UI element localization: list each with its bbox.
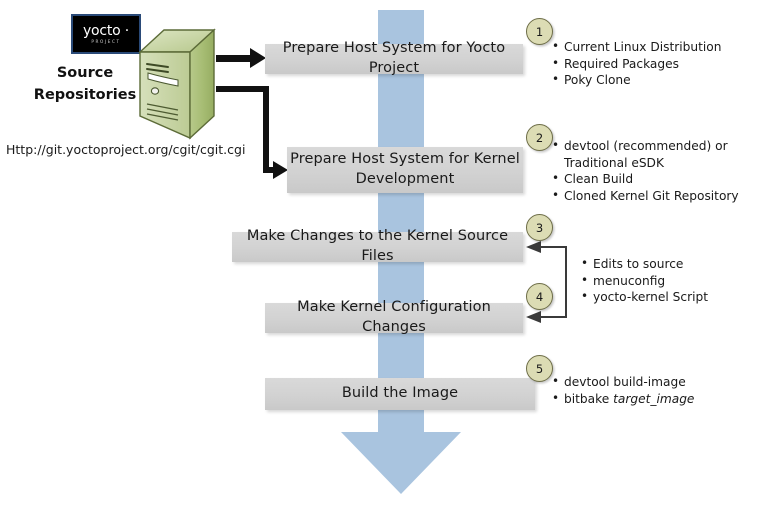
- logo-subtitle: PROJECT: [91, 40, 120, 44]
- list-item-emphasis: target_image: [613, 392, 694, 406]
- bracket-connector-top: [540, 246, 566, 248]
- server-icon: [138, 28, 216, 140]
- step-badge-4: 4: [526, 283, 553, 310]
- list-item-text: devtool build-image: [564, 375, 686, 389]
- diagram-canvas: yocto · PROJECT Source Repositories Http…: [0, 0, 769, 517]
- step-2-bullets: devtool (recommended) or Traditional eSD…: [552, 138, 764, 204]
- step-5-bullets: devtool build-image bitbake target_image: [552, 374, 752, 407]
- step-badge-2: 2: [526, 124, 553, 151]
- process-box-build-image[interactable]: Build the Image: [265, 378, 535, 410]
- connector-server-to-box2-vertical: [263, 86, 269, 173]
- bracket-arrowhead-step3: [526, 241, 541, 253]
- list-item: Clean Build: [552, 171, 764, 188]
- list-item: yocto-kernel Script: [581, 289, 761, 306]
- list-item: Edits to source: [581, 256, 761, 273]
- flow-arrow-head: [341, 432, 461, 494]
- source-repositories-label: Source Repositories: [26, 63, 144, 107]
- bracket-arrowhead-step4: [526, 311, 541, 323]
- process-box-make-changes[interactable]: Make Changes to the Kernel Source Files: [232, 232, 523, 262]
- step-badge-3: 3: [526, 214, 553, 241]
- connector-arrowhead-box2: [273, 161, 288, 179]
- process-box-prepare-host-kernel[interactable]: Prepare Host System for Kernel Developme…: [287, 147, 523, 193]
- connector-arrowhead-box1: [250, 48, 266, 68]
- steps-3-4-shared-bullets: Edits to source menuconfig yocto-kernel …: [581, 256, 761, 306]
- list-item: Cloned Kernel Git Repository: [552, 188, 764, 205]
- source-repository-url: Http://git.yoctoproject.org/cgit/cgit.cg…: [6, 142, 245, 157]
- list-item: devtool (recommended) or Traditional eSD…: [552, 138, 764, 171]
- list-item: bitbake target_image: [552, 391, 752, 408]
- step-badge-1: 1: [526, 18, 553, 45]
- connector-server-to-box2-horizontal: [216, 86, 269, 92]
- step-1-bullets: Current Linux Distribution Required Pack…: [552, 39, 762, 89]
- list-item: Required Packages: [552, 56, 762, 73]
- list-item: Poky Clone: [552, 72, 762, 89]
- step-badge-5: 5: [526, 355, 553, 382]
- list-item: Current Linux Distribution: [552, 39, 762, 56]
- list-item: menuconfig: [581, 273, 761, 290]
- process-box-kernel-config[interactable]: Make Kernel Configuration Changes: [265, 303, 523, 333]
- list-item: devtool build-image: [552, 374, 752, 391]
- list-item-text: bitbake: [564, 392, 613, 406]
- bracket-connector-bottom: [540, 316, 566, 318]
- yocto-project-logo: yocto · PROJECT: [71, 14, 141, 54]
- connector-server-to-box1: [216, 55, 252, 62]
- logo-wordmark: yocto ·: [83, 24, 129, 38]
- process-box-prepare-host-yocto[interactable]: Prepare Host System for Yocto Project: [265, 44, 523, 74]
- bracket-connector-vertical: [565, 246, 567, 318]
